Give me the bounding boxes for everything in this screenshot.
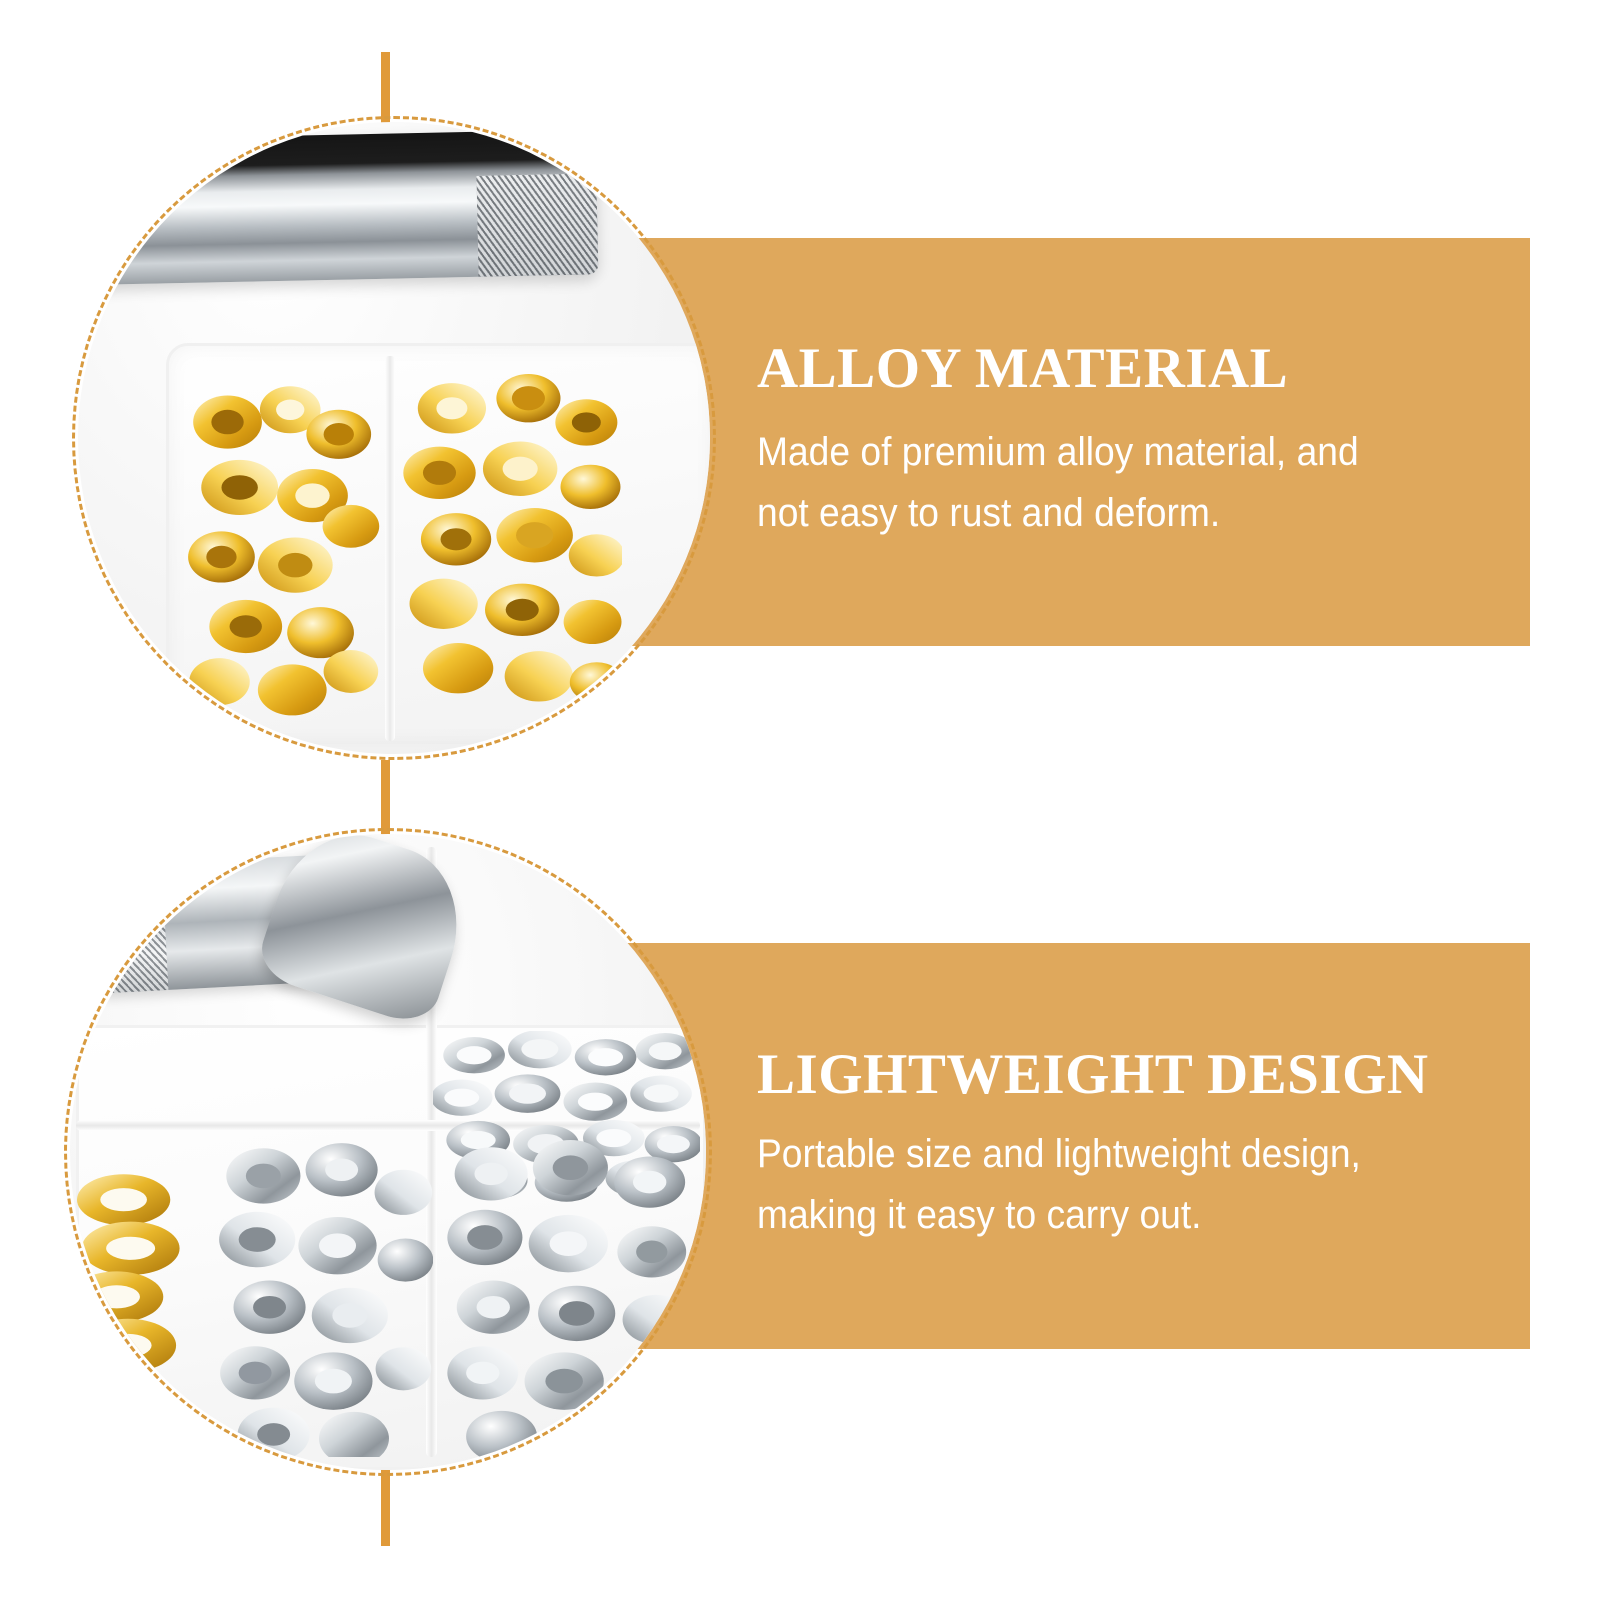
gold-eyelets-compartment-left [179,375,381,723]
feature-headline-1: ALLOY MATERIAL [757,340,1490,398]
connector-line-middle [381,760,390,840]
feature-text-block-2: LIGHTWEIGHT DESIGN Portable size and lig… [757,943,1490,1349]
silver-eyelets-compartment-left [216,1139,432,1457]
punch-tool-icon [78,129,598,286]
connector-line-top [381,52,390,130]
gold-rings-compartment [70,1165,210,1419]
feature-text-block-1: ALLOY MATERIAL Made of premium alloy mat… [757,238,1490,646]
photo-canvas-1 [78,122,710,754]
photo-canvas-2 [70,834,706,1470]
feature-body-1: Made of premium alloy material, and not … [757,422,1439,544]
infographic-canvas: ALLOY MATERIAL Made of premium alloy mat… [0,0,1600,1600]
product-photo-gold-kit [78,122,710,754]
feature-headline-2: LIGHTWEIGHT DESIGN [757,1046,1490,1104]
gold-eyelets-compartment-right [394,368,622,716]
product-photo-silver-kit [70,834,706,1470]
connector-line-bottom [381,1462,390,1546]
silver-eyelets-compartment-right [439,1139,700,1457]
feature-body-2: Portable size and lightweight design, ma… [757,1124,1439,1246]
